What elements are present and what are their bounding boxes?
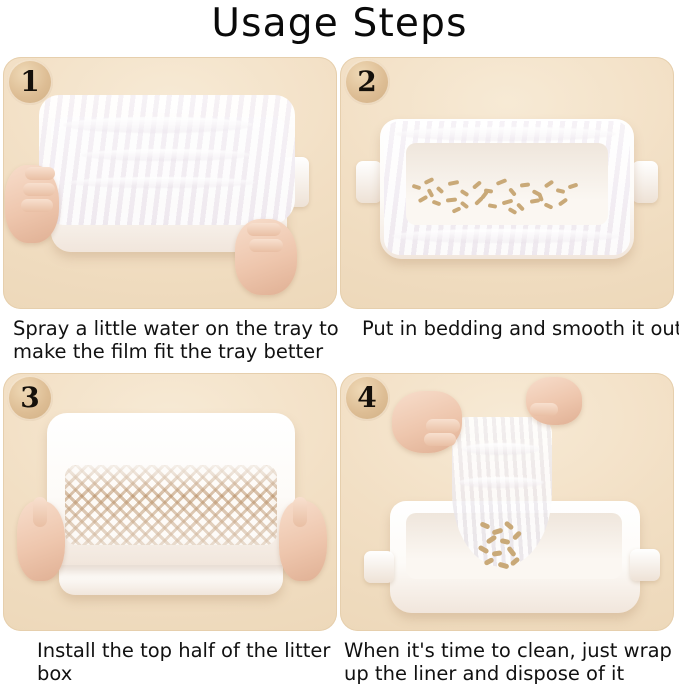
- step-card-2: 2 Put in bedding and smooth it out: [340, 57, 674, 340]
- mesh-grate: [65, 465, 277, 545]
- step-image-2: 2: [340, 57, 674, 309]
- tray-side-clip-left: [364, 551, 394, 583]
- step-card-4: 4 When it's time to clean, just wrap up …: [340, 373, 674, 685]
- finger: [247, 223, 281, 236]
- scene-lifting-liner-bag: [340, 373, 674, 631]
- liner-fold: [392, 229, 620, 243]
- step-image-4: 4: [340, 373, 674, 631]
- finger: [426, 419, 460, 433]
- finger: [293, 497, 307, 527]
- film-fold: [63, 117, 253, 133]
- page-title: Usage Steps: [0, 1, 679, 47]
- step-caption-4: When it's time to clean, just wrap up th…: [340, 639, 678, 685]
- finger: [25, 167, 55, 180]
- step-badge-2: 2: [344, 59, 390, 105]
- steps-grid: 1 Spray a little water on the tray to ma…: [0, 57, 679, 700]
- scene-installing-mesh-top: [3, 373, 337, 631]
- film-fold: [81, 149, 251, 161]
- step-image-1: 1: [3, 57, 337, 309]
- step-caption-1: Spray a little water on the tray to make…: [3, 317, 347, 363]
- step-badge-4: 4: [344, 375, 390, 421]
- step-image-3: 3: [3, 373, 337, 631]
- film-fold: [69, 177, 255, 188]
- finger: [249, 239, 283, 252]
- used-liner-bag: [452, 417, 552, 567]
- bag-fold: [458, 477, 544, 488]
- mesh-highlight: [65, 465, 277, 545]
- step-card-1: 1 Spray a little water on the tray to ma…: [3, 57, 337, 363]
- scene-lined-tray-with-bedding: [340, 57, 674, 309]
- right-hand: [526, 377, 582, 425]
- step-caption-3: Install the top half of the litter box: [3, 639, 371, 685]
- bag-fold: [462, 443, 540, 455]
- step-badge-1: 1: [7, 59, 53, 105]
- step-badge-3: 3: [7, 375, 53, 421]
- tray-side-clip-left: [356, 161, 382, 203]
- finger: [23, 183, 55, 196]
- usage-steps-infographic: Usage Steps: [0, 0, 679, 700]
- tray-side-clip-right: [630, 549, 660, 581]
- finger: [424, 433, 456, 446]
- liner-fold: [396, 127, 616, 141]
- scene-hands-stretching-film-over-tray: [3, 57, 337, 309]
- finger: [33, 497, 47, 527]
- step-caption-2: Put in bedding and smooth it out: [340, 317, 679, 340]
- finger: [21, 199, 53, 212]
- step-card-3: 3 Install the top half of the litter box: [3, 373, 337, 685]
- finger: [530, 403, 558, 416]
- tray-side-clip-right: [632, 161, 658, 203]
